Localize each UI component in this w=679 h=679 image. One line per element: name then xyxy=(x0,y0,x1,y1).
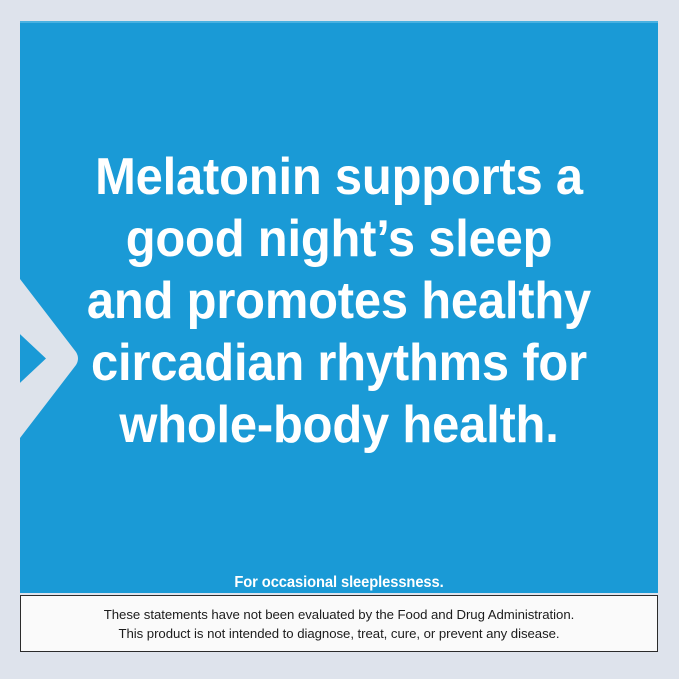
hero-card: Melatonin supports a good night’s sleep … xyxy=(20,21,658,593)
disclaimer-line-1: These statements have not been evaluated… xyxy=(104,605,574,624)
subheadline: For occasional sleeplessness. xyxy=(36,573,642,593)
disclaimer-box: These statements have not been evaluated… xyxy=(20,595,658,652)
product-claim-image: Melatonin supports a good night’s sleep … xyxy=(0,0,679,679)
headline: Melatonin supports a good night’s sleep … xyxy=(39,146,639,456)
headline-line-4: circadian rhythms for xyxy=(39,332,639,394)
headline-line-3: and promotes healthy xyxy=(39,270,639,332)
hero-card-top-hairline xyxy=(20,21,658,23)
headline-line-5: whole-body health. xyxy=(39,394,639,456)
disclaimer-line-2: This product is not intended to diagnose… xyxy=(118,624,559,643)
headline-line-2: good night’s sleep xyxy=(39,208,639,270)
headline-line-1: Melatonin supports a xyxy=(39,146,639,208)
